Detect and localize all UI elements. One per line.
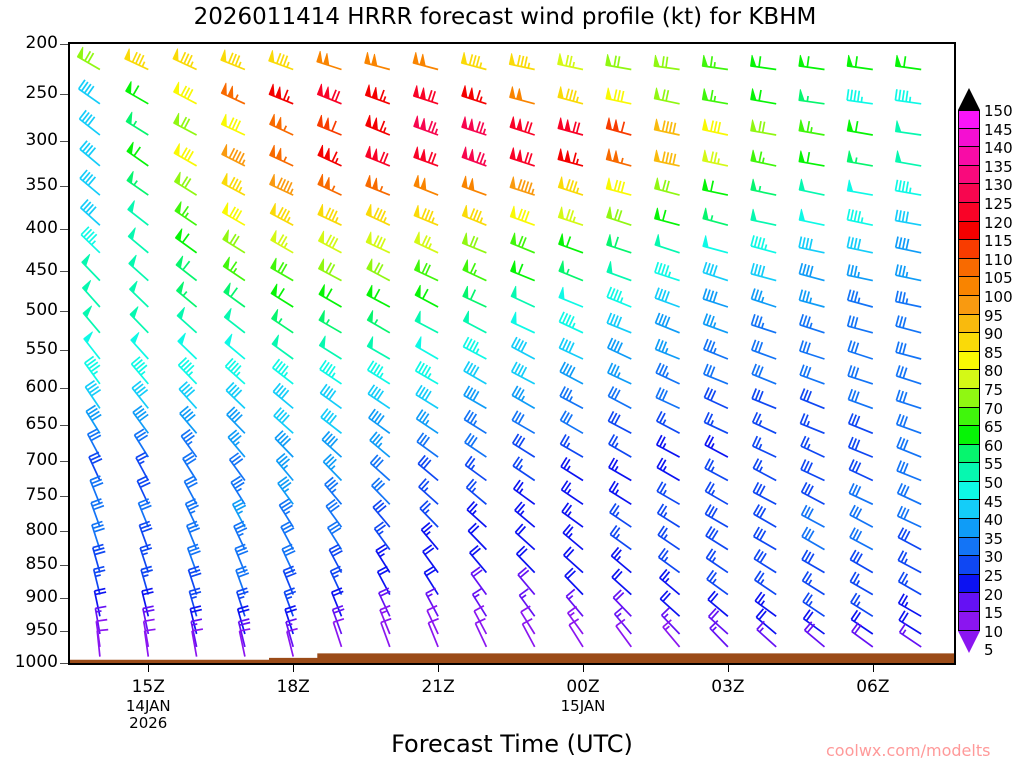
wind-barb xyxy=(755,571,777,595)
wind-barb xyxy=(658,526,680,550)
y-axis-tick-mark xyxy=(60,565,68,566)
wind-barb xyxy=(366,204,390,225)
wind-barb xyxy=(135,429,149,457)
wind-barb xyxy=(655,262,680,281)
wind-barb xyxy=(173,49,197,70)
wind-barb xyxy=(799,237,824,253)
y-axis-tick-mark xyxy=(60,271,68,272)
colorbar-cell xyxy=(958,408,980,427)
colorbar-cell xyxy=(958,277,980,296)
wind-barb xyxy=(222,144,245,166)
wind-barb xyxy=(365,85,389,104)
wind-barb xyxy=(179,382,196,409)
wind-profile-chart: 2026011414 HRRR forecast wind profile (k… xyxy=(0,0,1024,768)
wind-barb xyxy=(510,148,535,166)
wind-barb xyxy=(272,309,294,333)
y-axis-tick-mark xyxy=(60,598,68,599)
wind-barb xyxy=(608,387,631,409)
wind-barb xyxy=(414,147,438,166)
wind-barb xyxy=(271,258,294,281)
wind-barb xyxy=(655,178,680,195)
wind-barb xyxy=(369,409,390,433)
wind-barb xyxy=(513,434,535,457)
wind-barb xyxy=(654,55,680,70)
y-axis-tick-label: 300 xyxy=(26,132,58,149)
wind-barb xyxy=(270,145,294,166)
wind-barb xyxy=(559,261,583,281)
wind-barb xyxy=(654,150,679,166)
y-axis-tick-mark xyxy=(60,531,68,532)
colorbar-tick-label: 115 xyxy=(984,234,1013,249)
wind-barb xyxy=(82,254,100,280)
wind-barb xyxy=(705,505,728,527)
wind-barb xyxy=(125,49,149,70)
wind-barb xyxy=(184,476,197,504)
wind-barb xyxy=(754,550,776,573)
colorbar-tick-label: 50 xyxy=(984,476,1003,491)
wind-barb xyxy=(320,384,341,408)
wind-barb xyxy=(273,359,294,384)
wind-barb xyxy=(847,120,873,135)
wind-barb xyxy=(751,120,777,135)
colorbar-tick-label: 70 xyxy=(984,402,1003,417)
wind-barb xyxy=(704,364,728,384)
wind-barb xyxy=(850,550,873,573)
colorbar-cell xyxy=(958,575,980,594)
wind-barb xyxy=(896,180,922,195)
colorbar-tick-label: 60 xyxy=(984,439,1003,454)
wind-barb xyxy=(896,291,922,307)
wind-barb xyxy=(368,361,390,384)
colorbar-cell xyxy=(958,110,980,129)
x-axis-tick-label: 15Z14JAN2026 xyxy=(103,678,193,732)
wind-barb xyxy=(226,383,245,409)
wind-barb xyxy=(513,457,535,481)
wind-barb xyxy=(467,479,487,504)
wind-barb xyxy=(606,118,631,135)
y-axis-tick-label: 200 xyxy=(26,35,58,52)
wind-barb xyxy=(278,477,293,505)
wind-barb xyxy=(317,51,342,70)
wind-barb xyxy=(224,308,245,333)
wind-barb xyxy=(799,290,824,307)
colorbar-tick-label: 10 xyxy=(984,625,1003,640)
wind-barb xyxy=(271,284,293,307)
colorbar-cell xyxy=(958,612,980,631)
wind-barb xyxy=(277,454,294,481)
wind-barb xyxy=(751,89,777,104)
colorbar xyxy=(958,110,980,631)
wind-barb xyxy=(319,231,342,253)
wind-barb xyxy=(848,316,873,333)
wind-barb xyxy=(851,593,873,616)
wind-barb xyxy=(83,280,100,307)
wind-barb xyxy=(607,207,632,226)
wind-barb xyxy=(802,505,825,527)
wind-barb xyxy=(658,504,680,527)
wind-barb xyxy=(228,430,245,457)
y-axis-tick-label: 850 xyxy=(26,556,58,573)
wind-barb xyxy=(174,143,197,166)
wind-barb xyxy=(81,200,100,226)
wind-barb xyxy=(464,410,486,433)
wind-barb xyxy=(756,609,776,634)
wind-barb xyxy=(510,117,535,136)
x-axis-title: Forecast Time (UTC) xyxy=(68,730,956,758)
wind-barb xyxy=(127,171,148,195)
colorbar-tick-label: 90 xyxy=(984,327,1003,342)
wind-barb xyxy=(77,47,100,70)
colorbar-cell xyxy=(958,166,980,185)
colorbar-tick-label: 65 xyxy=(984,420,1003,435)
wind-barb xyxy=(848,389,872,408)
colorbar-tick-label: 105 xyxy=(984,271,1013,286)
wind-barb xyxy=(847,89,873,104)
plot-area xyxy=(68,42,956,665)
wind-barb xyxy=(416,361,439,384)
wind-barb xyxy=(606,88,631,104)
y-axis-tick-label: 550 xyxy=(26,341,58,358)
wind-barb xyxy=(799,179,824,195)
wind-barb xyxy=(319,310,342,333)
wind-barb xyxy=(464,361,487,384)
wind-barb xyxy=(657,458,680,481)
wind-barb xyxy=(896,210,922,225)
wind-barb xyxy=(322,432,341,458)
wind-barb xyxy=(702,89,728,104)
wind-barb xyxy=(559,287,583,307)
wind-barb xyxy=(558,53,583,69)
wind-barb xyxy=(272,335,293,359)
wind-barb xyxy=(608,338,632,359)
wind-barb xyxy=(895,121,921,136)
wind-barb xyxy=(710,621,728,647)
wind-barb xyxy=(514,480,535,504)
wind-barb xyxy=(660,591,679,617)
wind-barb xyxy=(608,363,632,384)
wind-barb xyxy=(85,381,100,409)
wind-barb xyxy=(563,525,583,550)
wind-barb xyxy=(703,262,728,281)
wind-barb xyxy=(754,527,777,550)
wind-barb xyxy=(415,285,438,307)
wind-barb xyxy=(896,390,921,409)
wind-barb xyxy=(607,234,632,253)
wind-barb xyxy=(463,260,487,281)
wind-barb xyxy=(317,115,341,135)
wind-barb xyxy=(704,412,728,433)
wind-barb xyxy=(86,405,101,433)
wind-barb xyxy=(224,283,245,307)
colorbar-cell xyxy=(958,538,980,557)
wind-barb xyxy=(706,527,728,550)
wind-barb xyxy=(800,389,824,409)
wind-barb xyxy=(800,341,825,360)
wind-barb xyxy=(512,411,535,434)
wind-barb xyxy=(177,307,196,333)
wind-barb xyxy=(559,338,583,359)
wind-barb xyxy=(273,383,293,408)
wind-barb xyxy=(558,207,583,226)
wind-barb xyxy=(849,483,873,504)
y-axis-tick-label: 1000 xyxy=(15,654,58,671)
wind-barb xyxy=(847,209,872,225)
wind-barb xyxy=(415,260,439,281)
wind-barb xyxy=(663,620,680,647)
wind-barb xyxy=(414,175,438,195)
colorbar-cell xyxy=(958,482,980,501)
y-axis-tick-label: 800 xyxy=(26,522,58,539)
y-axis-tick-mark xyxy=(60,229,68,230)
wind-barb xyxy=(269,84,293,104)
wind-barb xyxy=(800,314,825,333)
wind-barb xyxy=(230,453,245,481)
wind-barb xyxy=(561,435,584,458)
wind-barb xyxy=(223,230,245,253)
wind-barb xyxy=(895,89,921,104)
wind-barb xyxy=(850,572,873,595)
colorbar-tick-label: 110 xyxy=(984,253,1013,268)
y-axis-tick-label: 700 xyxy=(26,452,58,469)
wind-barb-field xyxy=(70,44,954,663)
wind-barb xyxy=(801,436,825,457)
wind-barb xyxy=(367,310,390,333)
wind-barb xyxy=(226,358,245,384)
wind-barb xyxy=(657,435,680,457)
wind-barb xyxy=(511,233,535,253)
x-axis-tick-label: 03Z xyxy=(683,678,773,698)
wind-barb xyxy=(610,504,632,528)
wind-barb xyxy=(81,227,100,253)
wind-barb xyxy=(752,340,776,359)
wind-barb xyxy=(129,255,148,281)
wind-barb xyxy=(558,87,583,104)
wind-barb xyxy=(707,570,728,594)
wind-barb xyxy=(367,285,390,307)
wind-barb xyxy=(896,151,922,166)
y-axis-tick-label: 500 xyxy=(26,302,58,319)
wind-barb xyxy=(511,312,535,333)
wind-barb xyxy=(413,85,438,103)
wind-barb xyxy=(317,84,341,104)
x-axis-tick-mark xyxy=(873,665,874,672)
wind-barb xyxy=(132,357,149,384)
colorbar-cell xyxy=(958,222,980,241)
wind-barb xyxy=(521,606,535,634)
wind-barb xyxy=(366,146,390,166)
wind-barb xyxy=(270,174,294,195)
wind-barb xyxy=(803,572,825,595)
wind-barb xyxy=(898,483,922,504)
colorbar-cell xyxy=(958,296,980,315)
wind-barb xyxy=(656,363,680,384)
wind-barb xyxy=(227,407,245,433)
wind-barb xyxy=(561,457,583,480)
watermark: coolwx.com/modelts xyxy=(826,741,990,760)
colorbar-tick-label: 5 xyxy=(984,643,994,658)
colorbar-cell xyxy=(958,352,980,371)
wind-barb xyxy=(896,264,922,280)
colorbar-cell xyxy=(958,240,980,259)
wind-barb xyxy=(79,80,100,104)
wind-barb xyxy=(175,172,197,195)
wind-barb xyxy=(510,87,535,104)
wind-barb xyxy=(80,110,100,135)
wind-barb xyxy=(558,177,583,196)
wind-barb xyxy=(896,316,921,333)
wind-barb xyxy=(703,235,728,252)
wind-barb xyxy=(179,358,197,384)
wind-barb xyxy=(269,50,294,69)
wind-barb xyxy=(175,202,197,226)
wind-barb xyxy=(174,82,197,104)
colorbar-tick-label: 45 xyxy=(984,495,1003,510)
wind-barb xyxy=(375,522,390,550)
y-axis-tick-label: 750 xyxy=(26,487,58,504)
wind-barb xyxy=(849,413,873,433)
wind-barb xyxy=(608,411,631,433)
wind-barb xyxy=(366,175,390,195)
wind-barb xyxy=(176,256,197,281)
wind-barb xyxy=(753,482,776,504)
page-title: 2026011414 HRRR forecast wind profile (k… xyxy=(0,4,1010,30)
wind-barb xyxy=(462,117,487,136)
wind-barb xyxy=(800,413,824,433)
wind-barb xyxy=(512,386,535,409)
wind-barb xyxy=(174,113,197,135)
wind-barb xyxy=(130,281,149,307)
colorbar-tick-label: 20 xyxy=(984,588,1003,603)
y-axis-tick-mark xyxy=(60,496,68,497)
wind-barb xyxy=(321,409,342,434)
wind-barb xyxy=(464,386,487,409)
wind-barb xyxy=(462,85,487,103)
wind-barb xyxy=(899,594,922,617)
wind-barb xyxy=(799,209,824,225)
wind-barb xyxy=(606,54,632,69)
wind-barb xyxy=(328,522,342,550)
y-axis-tick-mark xyxy=(60,663,68,664)
wind-barb xyxy=(607,287,631,307)
colorbar-tick-label: 130 xyxy=(984,178,1013,193)
wind-barb xyxy=(703,208,728,225)
wind-barb xyxy=(801,460,825,481)
x-axis-tick-label: 21Z xyxy=(393,678,483,698)
wind-barb xyxy=(847,264,872,280)
wind-barb xyxy=(799,263,824,280)
colorbar-cell xyxy=(958,519,980,538)
wind-barb xyxy=(509,53,534,69)
wind-barb xyxy=(896,365,921,384)
wind-barb xyxy=(752,364,776,384)
colorbar-tick-label: 85 xyxy=(984,346,1003,361)
wind-barb xyxy=(371,455,390,481)
wind-barb xyxy=(319,259,342,281)
wind-barb xyxy=(703,289,728,308)
y-axis-tick-mark xyxy=(60,350,68,351)
wind-barb xyxy=(130,307,148,333)
wind-barb xyxy=(753,459,776,481)
colorbar-tick-label: 55 xyxy=(984,457,1003,472)
wind-barb xyxy=(610,526,631,550)
colorbar-cell xyxy=(958,445,980,464)
x-axis-tick-label: 06Z xyxy=(828,678,918,698)
wind-barb xyxy=(511,261,535,281)
colorbar-tick-label: 15 xyxy=(984,606,1003,621)
wind-barb xyxy=(752,314,777,333)
colorbar-tick-label: 120 xyxy=(984,216,1013,231)
wind-barb xyxy=(751,235,776,252)
wind-barb xyxy=(319,284,342,307)
wind-barb xyxy=(367,337,390,360)
y-axis-tick-label: 350 xyxy=(26,177,58,194)
wind-barb xyxy=(896,342,921,359)
wind-barb xyxy=(128,228,148,253)
wind-barb xyxy=(800,365,824,384)
wind-barb xyxy=(271,230,294,253)
x-axis-tick-mark xyxy=(148,665,149,672)
colorbar-cell xyxy=(958,259,980,278)
wind-barb xyxy=(465,456,486,480)
wind-barb xyxy=(849,437,873,457)
wind-barb xyxy=(703,150,728,166)
wind-barb xyxy=(462,176,486,195)
wind-barb xyxy=(415,311,438,333)
wind-barb xyxy=(417,410,439,434)
wind-barb xyxy=(848,365,873,384)
wind-barb xyxy=(467,502,486,527)
wind-barb xyxy=(609,481,631,504)
wind-barb xyxy=(703,119,728,135)
wind-barb xyxy=(705,482,728,505)
wind-barb xyxy=(416,385,438,408)
wind-barb xyxy=(655,208,680,225)
wind-barb xyxy=(562,503,583,527)
x-axis-tick-mark xyxy=(293,665,294,672)
wind-barb xyxy=(705,459,728,481)
wind-barb xyxy=(462,205,486,225)
wind-barb xyxy=(751,150,776,166)
wind-barb xyxy=(274,408,293,434)
wind-barb xyxy=(848,290,873,307)
wind-barb xyxy=(898,528,921,550)
x-axis-tick-mark xyxy=(583,665,584,672)
wind-barb xyxy=(416,337,439,360)
colorbar-cell xyxy=(958,370,980,389)
wind-barb xyxy=(660,569,680,594)
wind-barb xyxy=(847,151,873,166)
wind-barb xyxy=(799,89,825,104)
wind-barb xyxy=(848,341,873,360)
wind-barb xyxy=(281,522,294,550)
colorbar-cell xyxy=(958,129,980,148)
wind-barb xyxy=(222,173,245,195)
wind-barb xyxy=(897,414,922,433)
y-axis-tick-label: 650 xyxy=(26,416,58,433)
wind-barb xyxy=(83,306,100,333)
wind-barb xyxy=(413,52,438,69)
y-axis-tick-mark xyxy=(60,461,68,462)
wind-barb xyxy=(84,332,100,359)
y-axis-tick-label: 950 xyxy=(26,622,58,639)
wind-barb xyxy=(414,205,438,225)
wind-barb xyxy=(609,435,632,458)
y-axis-tick-label: 400 xyxy=(26,220,58,237)
colorbar-cell xyxy=(958,203,980,222)
wind-barb xyxy=(802,527,825,550)
wind-barb xyxy=(751,55,777,70)
y-axis-tick-mark xyxy=(60,94,68,95)
